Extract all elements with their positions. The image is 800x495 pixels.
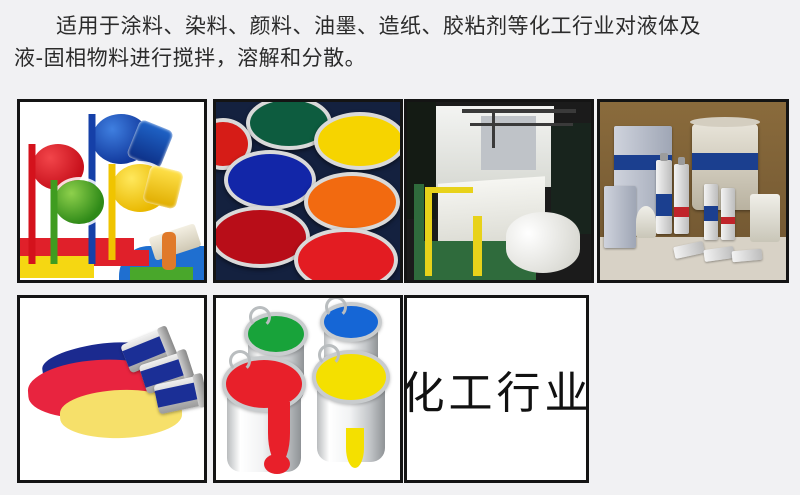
overhead-pipe-1 bbox=[462, 109, 576, 113]
green-bucket-handle bbox=[249, 306, 271, 328]
cartridge-nozzle-2 bbox=[678, 157, 685, 165]
small-bottle bbox=[636, 206, 656, 238]
yellow-paint-drip bbox=[346, 428, 364, 468]
yellow-paint-stream bbox=[109, 164, 116, 260]
product-carton-small bbox=[604, 186, 636, 248]
paper-roll bbox=[506, 212, 580, 273]
overhead-pipe-2 bbox=[470, 123, 573, 126]
adhesive-products-illustration bbox=[600, 102, 786, 280]
red-paint-stream bbox=[29, 144, 36, 264]
sealant-cartridge-1 bbox=[656, 160, 672, 234]
panel-four-buckets[interactable] bbox=[213, 295, 403, 483]
image-gallery-grid: 化工行业 bbox=[17, 99, 789, 485]
panel-spilled-cans[interactable] bbox=[17, 295, 207, 483]
yellow-rail-top bbox=[425, 187, 473, 193]
panel-industry-label[interactable]: 化工行业 bbox=[404, 295, 589, 483]
industry-label-tile: 化工行业 bbox=[407, 298, 586, 480]
green-frame-post bbox=[414, 184, 424, 280]
panel-pigment-tins[interactable] bbox=[213, 99, 403, 283]
caption-line-2: 液-固相物料进行搅拌，溶解和分散。 bbox=[14, 42, 786, 74]
pail-blue-label bbox=[692, 153, 758, 170]
cartridge-label-1 bbox=[656, 194, 672, 216]
product-jar bbox=[750, 194, 780, 242]
tube-label-2 bbox=[721, 217, 735, 224]
green-paint-stream bbox=[51, 180, 58, 264]
paint-pouring-illustration bbox=[20, 102, 204, 280]
blue-pigment-tin bbox=[224, 150, 316, 210]
yellow-can-body bbox=[142, 164, 184, 209]
sealant-tube-2 bbox=[721, 188, 735, 240]
green-paint-strip bbox=[130, 267, 193, 280]
cartridge-nozzle-1 bbox=[660, 153, 667, 161]
tube-label-1 bbox=[704, 206, 718, 221]
caption-line-1: 适用于涂料、染料、颜料、油墨、造纸、胶粘剂等化工行业对液体及 bbox=[14, 10, 786, 42]
yellow-rail-left bbox=[425, 187, 432, 276]
yellow-pigment-tin bbox=[314, 112, 400, 170]
orange-pigment-tin bbox=[304, 172, 400, 232]
cartridge-label-2 bbox=[674, 207, 689, 217]
pigment-tins-illustration bbox=[216, 102, 400, 280]
intro-caption: 适用于涂料、染料、颜料、油墨、造纸、胶粘剂等化工行业对液体及 液-固相物料进行搅… bbox=[0, 10, 800, 74]
sealant-cartridge-2 bbox=[674, 164, 689, 234]
spilled-cans-illustration bbox=[20, 298, 204, 480]
panel-paper-mill[interactable] bbox=[404, 99, 594, 283]
red-pigment-tin bbox=[294, 228, 398, 280]
green-paint-blob bbox=[54, 180, 104, 224]
sealant-tube-1 bbox=[704, 184, 718, 240]
panel-adhesive-products[interactable] bbox=[597, 99, 789, 283]
roller-handle bbox=[162, 232, 176, 270]
paper-mill-illustration bbox=[407, 102, 591, 280]
red-paint-droplet bbox=[264, 454, 290, 474]
page-root: 适用于涂料、染料、颜料、油墨、造纸、胶粘剂等化工行业对液体及 液-固相物料进行搅… bbox=[0, 0, 800, 495]
red-paint-bucket bbox=[222, 356, 306, 472]
red-bucket-handle bbox=[229, 350, 251, 372]
yellow-rail-right bbox=[473, 216, 482, 277]
four-buckets-illustration bbox=[216, 298, 400, 480]
panel-paint-pouring[interactable] bbox=[17, 99, 207, 283]
industry-label-text: 化工行业 bbox=[407, 357, 586, 421]
overhead-support bbox=[492, 109, 495, 148]
